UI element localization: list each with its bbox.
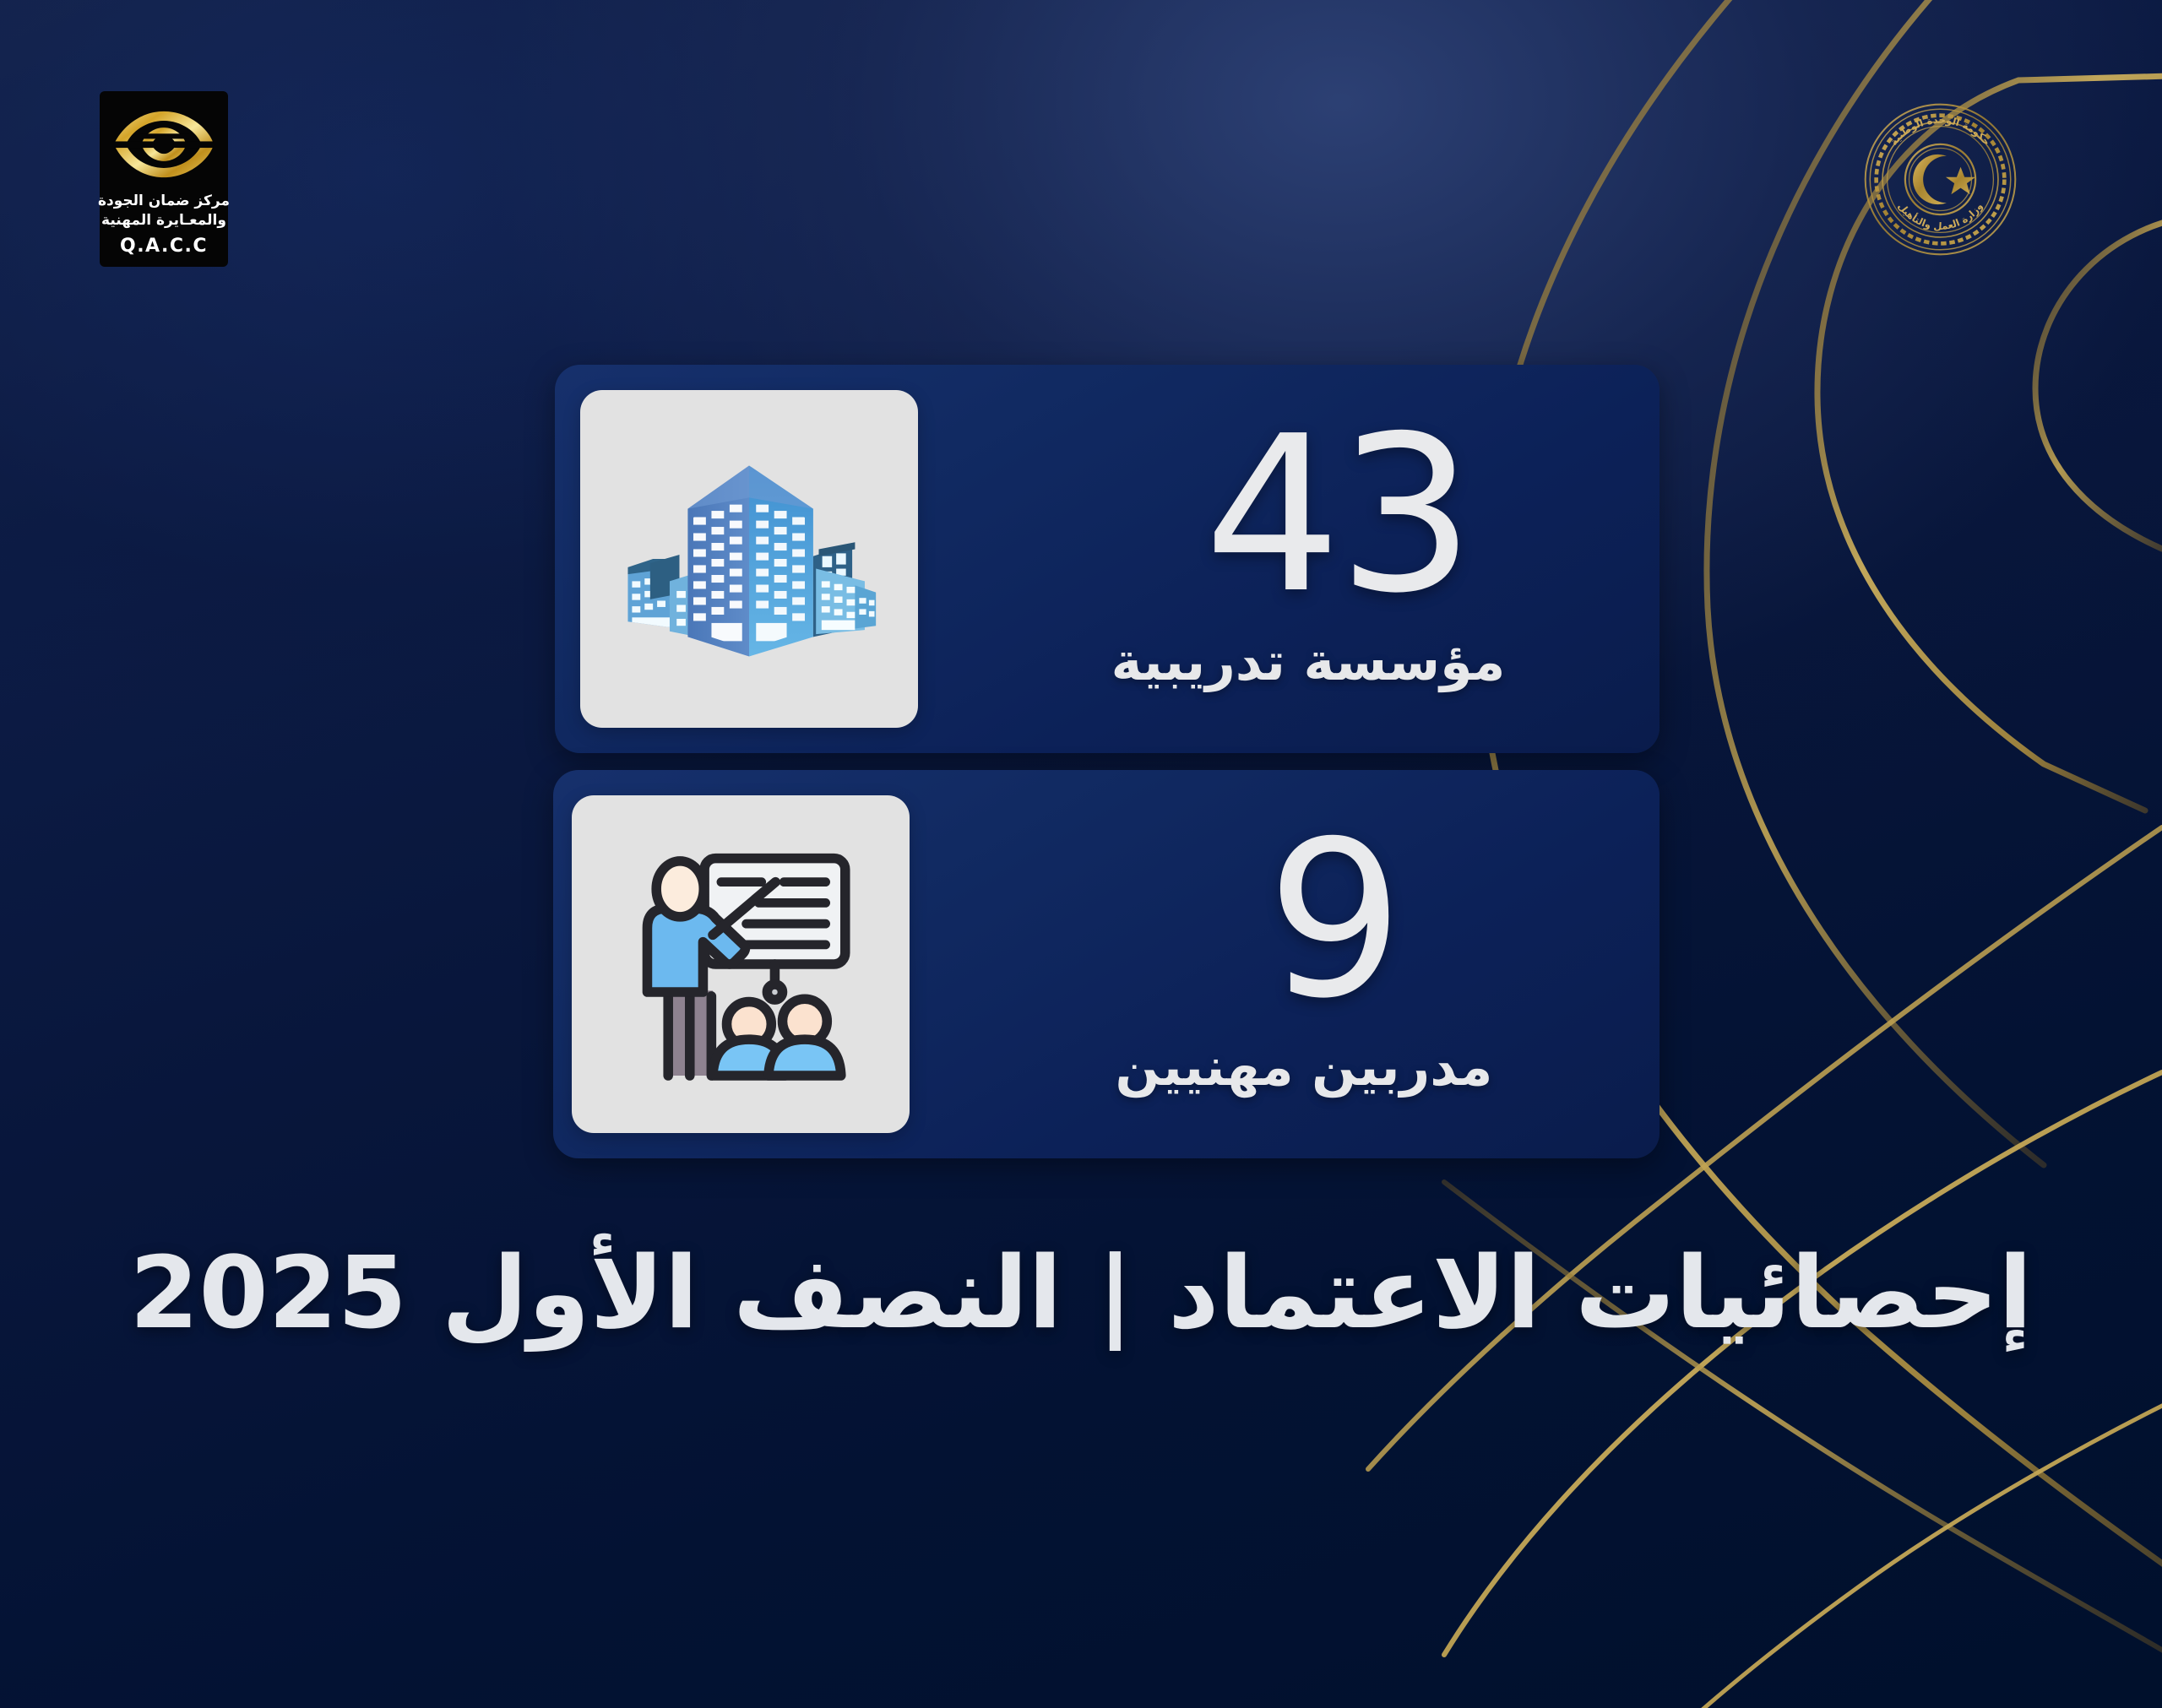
- stat-icon-tile: [580, 390, 918, 728]
- stat-number: 43: [1204, 426, 1471, 606]
- qacc-logo: مركز ضمان الجودة والمعـايرة المهنية Q.A.…: [100, 91, 228, 267]
- office-buildings-icon: [610, 420, 888, 698]
- libya-gnu-emblem: حكومة الوحدة الوطنية وزارة العمل والتأهي…: [1862, 101, 2018, 258]
- page-title: إحصائيات الاعتماد | النصف الأول 2025: [0, 1234, 2162, 1351]
- stat-cards-container: 43 مؤسسة تدريبية: [553, 365, 1660, 1158]
- trainer-presentation-icon: [601, 825, 880, 1103]
- eye-mark-icon: [112, 106, 215, 183]
- stat-label: مؤسسة تدريبية: [1111, 632, 1506, 691]
- stat-icon-tile: [572, 795, 910, 1133]
- stat-card-text-block: 9 مدربين مهنيين: [923, 831, 1660, 1097]
- stat-number: 9: [1267, 831, 1400, 1011]
- stat-card-institutions[interactable]: 43 مؤسسة تدريبية: [555, 365, 1660, 753]
- qacc-abbreviation: Q.A.C.C: [120, 236, 208, 257]
- qacc-arabic-line-2: والمعـايرة المهنية: [101, 212, 226, 230]
- stat-card-text-block: 43 مؤسسة تدريبية: [932, 426, 1660, 691]
- infographic-poster: مركز ضمان الجودة والمعـايرة المهنية Q.A.…: [0, 0, 2162, 1708]
- stat-label: مدربين مهنيين: [1116, 1037, 1493, 1097]
- qacc-arabic-line-1: مركز ضمان الجودة: [98, 192, 230, 210]
- stat-card-trainers[interactable]: 9 مدربين مهنيين: [553, 770, 1660, 1158]
